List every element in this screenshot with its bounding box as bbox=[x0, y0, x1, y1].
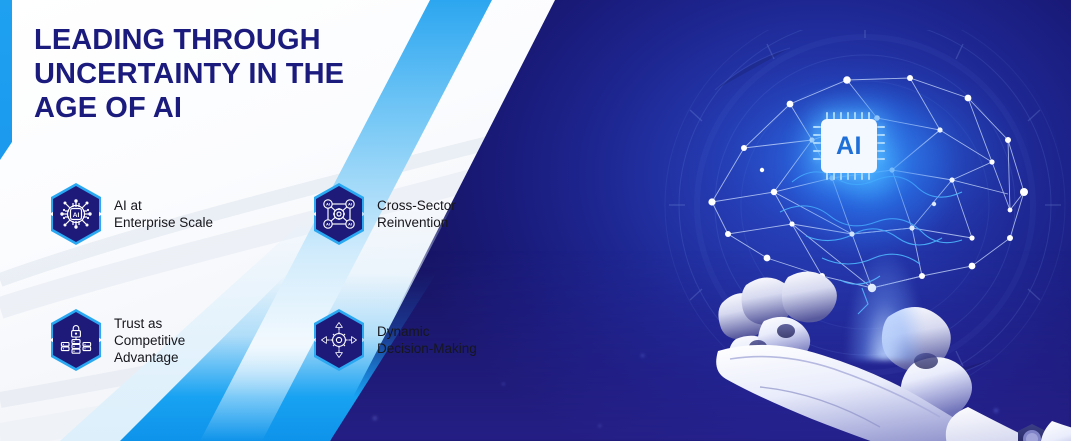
feature-item-cross-sector-reinvention[interactable]: AIAI AIAI Cross-Sector Reinvention bbox=[311, 182, 561, 246]
feature-label-line: Advantage bbox=[114, 349, 185, 366]
svg-text:AI: AI bbox=[73, 212, 80, 219]
feature-label-line: Enterprise Scale bbox=[114, 214, 213, 231]
svg-text:AI: AI bbox=[348, 222, 352, 227]
feature-item-dynamic-decision-making[interactable]: Dynamic Decision-Making bbox=[311, 308, 561, 372]
page-title: LEADING THROUGH UNCERTAINTY IN THE AGE O… bbox=[34, 24, 434, 126]
svg-text:AI: AI bbox=[326, 222, 330, 227]
cross-sector-network-icon: AIAI AIAI bbox=[311, 182, 367, 246]
ai-chip-label: AI bbox=[836, 134, 862, 159]
feature-label: AI at Enterprise Scale bbox=[114, 197, 213, 231]
feature-label-line: Reinvention bbox=[377, 214, 456, 231]
title-line-1: LEADING THROUGH bbox=[34, 24, 434, 58]
feature-label-line: Dynamic bbox=[377, 323, 477, 340]
title-line-3: AGE OF AI bbox=[34, 92, 434, 126]
feature-label: Trust as Competitive Advantage bbox=[114, 315, 185, 366]
ai-enterprise-chip-icon: AI bbox=[48, 182, 104, 246]
dynamic-gear-arrows-icon bbox=[311, 308, 367, 372]
feature-label-line: Trust as bbox=[114, 315, 185, 332]
feature-label-line: Competitive bbox=[114, 332, 185, 349]
energy-beam bbox=[845, 250, 925, 360]
feature-row-1: AI AI at Enterprise Scale bbox=[48, 182, 568, 246]
feature-label: Cross-Sector Reinvention bbox=[377, 197, 456, 231]
feature-label-line: Decision-Making bbox=[377, 340, 477, 357]
feature-row-2: Trust as Competitive Advantage bbox=[48, 308, 568, 372]
feature-label-line: AI at bbox=[114, 197, 213, 214]
svg-text:AI: AI bbox=[326, 202, 330, 207]
trust-lock-server-icon bbox=[48, 308, 104, 372]
ai-leadership-banner: AI bbox=[0, 0, 1071, 441]
feature-item-trust-competitive-advantage[interactable]: Trust as Competitive Advantage bbox=[48, 308, 311, 372]
left-accent-bar bbox=[0, 0, 12, 160]
feature-item-ai-enterprise-scale[interactable]: AI AI at Enterprise Scale bbox=[48, 182, 311, 246]
svg-text:AI: AI bbox=[348, 202, 352, 207]
title-line-2: UNCERTAINTY IN THE bbox=[34, 58, 434, 92]
ai-chip-icon: AI bbox=[821, 119, 877, 173]
feature-label-line: Cross-Sector bbox=[377, 197, 456, 214]
hud-rings-icon bbox=[660, 30, 1071, 430]
feature-list: AI AI at Enterprise Scale bbox=[48, 182, 568, 372]
feature-label: Dynamic Decision-Making bbox=[377, 323, 477, 357]
